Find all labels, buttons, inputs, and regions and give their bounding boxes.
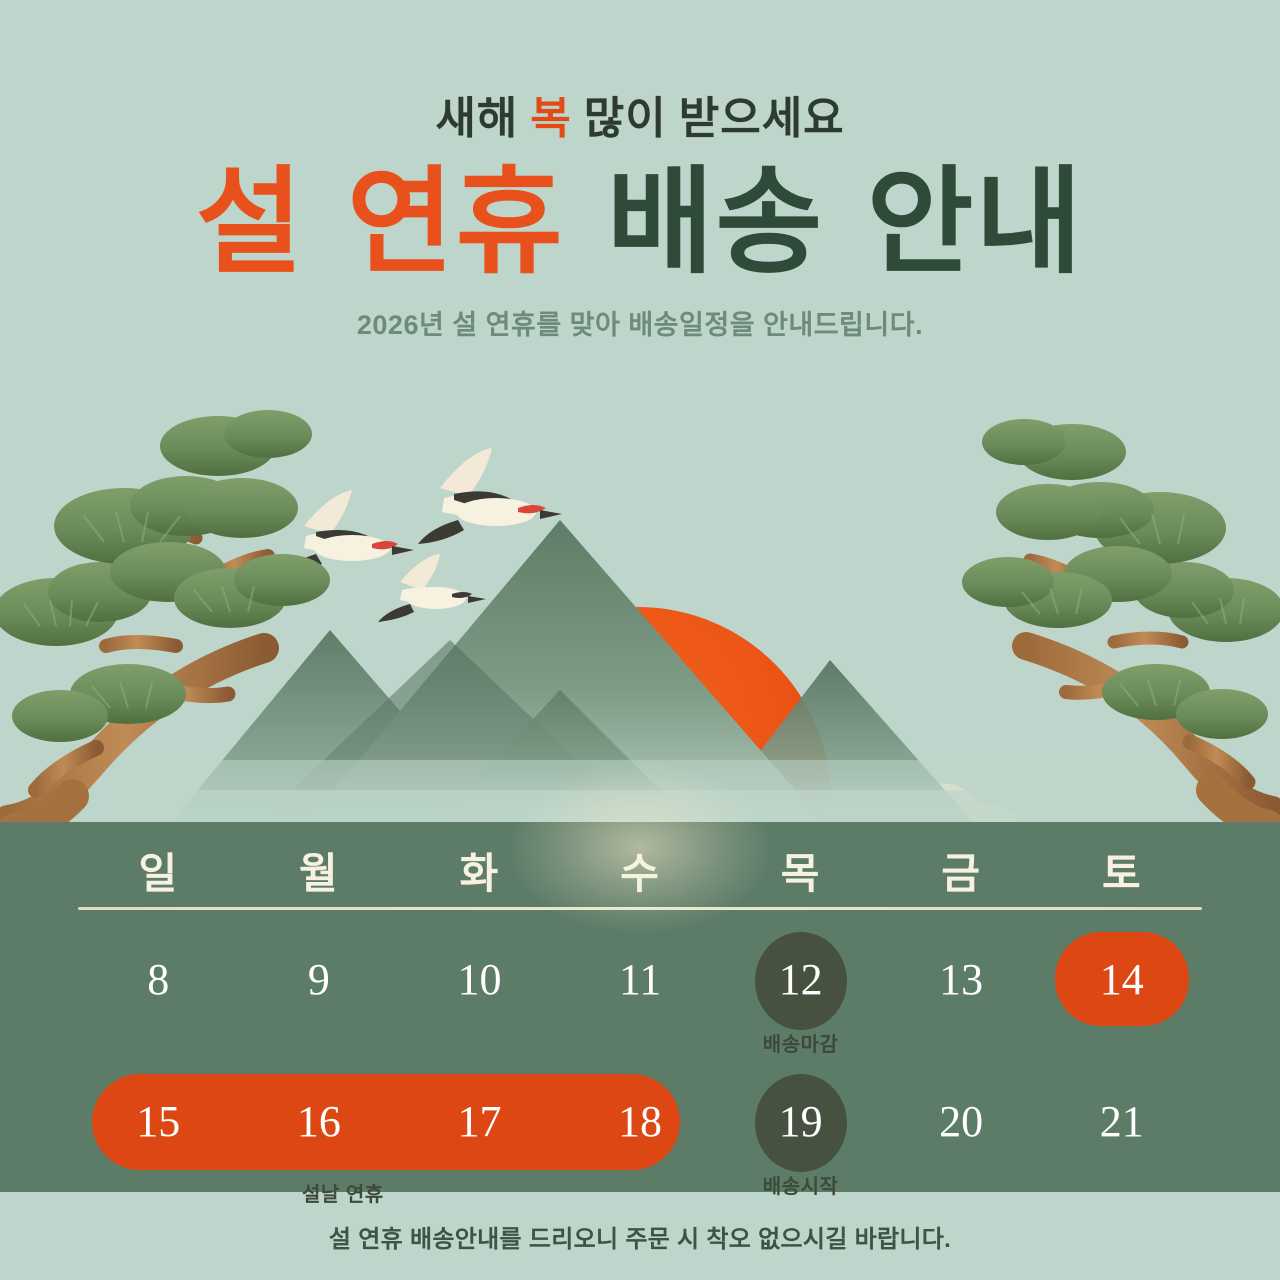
day-cell[interactable]: 11 (560, 924, 721, 1072)
day-number: 19 (779, 1080, 823, 1164)
title-accent: 설 연휴 (196, 155, 565, 290)
day-label-delivery-deadline: 배송마감 (763, 1028, 839, 1057)
weekday-sat: 토 (1041, 840, 1202, 901)
day-number: 18 (618, 1080, 662, 1164)
day-cell[interactable]: 9 (239, 924, 400, 1072)
day-cell-resume[interactable]: 19 배송시작 (720, 1066, 881, 1214)
day-number: 14 (1100, 938, 1144, 1022)
footer-note: 설 연휴 배송안내를 드리오니 주문 시 착오 없으시길 바랍니다. (329, 1219, 951, 1254)
day-number: 8 (147, 938, 169, 1022)
calendar-week-row-2: 설날 연휴 15 16 17 18 19 배송시작 20 21 (0, 1066, 1280, 1214)
day-cell-highlight[interactable]: 14 (1041, 924, 1202, 1072)
day-number: 15 (136, 1080, 180, 1164)
day-number: 20 (939, 1080, 983, 1164)
calendar-divider (78, 907, 1202, 910)
day-number: 11 (619, 938, 661, 1022)
subtitle: 2026년 설 연휴를 맞아 배송일정을 안내드립니다. (0, 285, 1280, 342)
day-number: 21 (1100, 1080, 1144, 1164)
weekday-thu: 목 (720, 840, 881, 901)
crane-2-icon (418, 448, 562, 544)
day-number: 12 (779, 938, 823, 1022)
calendar-panel: 일 월 화 수 목 금 토 8 9 10 11 12 (0, 822, 1280, 1192)
weekday-mon: 월 (239, 840, 400, 901)
title-main: 배송 안내 (607, 155, 1084, 290)
greeting-blessing: 복 (530, 94, 571, 143)
day-cell[interactable]: 10 (399, 924, 560, 1072)
day-number: 13 (939, 938, 983, 1022)
day-number: 10 (457, 938, 501, 1022)
weekday-tue: 화 (399, 840, 560, 901)
calendar-week-row-1: 8 9 10 11 12 배송마감 13 14 (0, 924, 1280, 1072)
weekday-fri: 금 (881, 840, 1042, 901)
greeting-pre: 새해 (435, 94, 530, 143)
day-cell[interactable]: 8 (78, 924, 239, 1072)
greeting-post: 많이 받으세요 (572, 94, 845, 143)
header: 새해 복 많이 받으세요 설 연휴 배송 안내 2026년 설 연휴를 맞아 배… (0, 0, 1280, 370)
weekday-header-row: 일 월 화 수 목 금 토 (0, 822, 1280, 901)
day-cell-deadline[interactable]: 12 배송마감 (720, 924, 881, 1072)
page-title: 설 연휴 배송 안내 (0, 146, 1280, 285)
day-cell[interactable]: 13 (881, 924, 1042, 1072)
holiday-range-label: 설날 연휴 (302, 1178, 384, 1207)
day-label-delivery-start: 배송시작 (763, 1170, 839, 1199)
day-cell[interactable]: 20 (881, 1066, 1042, 1214)
crane-3-icon (378, 554, 486, 622)
day-cell[interactable]: 21 (1041, 1066, 1202, 1214)
weekday-sun: 일 (78, 840, 239, 901)
poster-root: 새해 복 많이 받으세요 설 연휴 배송 안내 2026년 설 연휴를 맞아 배… (0, 0, 1280, 1280)
day-number: 17 (457, 1080, 501, 1164)
weekday-wed: 수 (560, 840, 721, 901)
day-number: 16 (297, 1080, 341, 1164)
day-number: 9 (308, 938, 330, 1022)
illustration-scene (0, 330, 1280, 830)
greeting-line: 새해 복 많이 받으세요 (0, 0, 1280, 146)
